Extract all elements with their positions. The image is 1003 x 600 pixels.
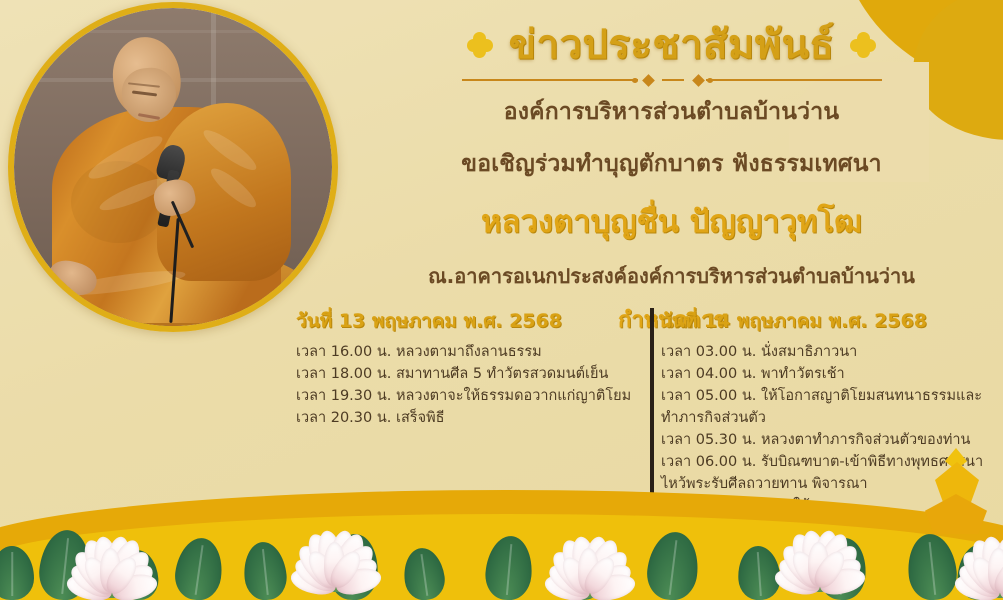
schedule-section: วันที่ 13 พฤษภาคม พ.ศ. 2568 เวลา 16.00 น… [296,306,996,521]
header-block: ข่าวประชาสัมพันธ์ องค์การบริหารส่วนตำบลบ… [340,0,1003,337]
schedule-item: เวลา 18.00 น. สมาทานศีล 5 ทำวัตรสวดมนต์เ… [296,363,623,385]
lotus-flower-icon [760,500,880,592]
lotus-flower-icon [530,506,650,598]
monk-photo [8,2,338,332]
photo-wall-line-top [14,30,332,33]
lotus-flower-icon [276,500,396,592]
schedule-item: เวลา 19.30 น. หลวงตาจะให้ธรรมดอวากแก่ญาต… [296,385,623,407]
page-title: ข่าวประชาสัมพันธ์ [509,24,835,66]
schedule-column-day1: วันที่ 13 พฤษภาคม พ.ศ. 2568 เวลา 16.00 น… [296,306,641,521]
venue-line: ณ.อาคารอเนกประสงค์องค์การบริหารส่วนตำบลบ… [340,260,1003,292]
schedule-item: เวลา 05.00 น. ให้โอกาสญาติโยมสนทนาธรรมแล… [661,385,991,407]
title-divider [462,72,882,88]
schedule-item: เวลา 16.00 น. หลวงตามาถึงลานธรรม [296,341,623,363]
poster-canvas: ข่าวประชาสัมพันธ์ องค์การบริหารส่วนตำบลบ… [0,0,1003,600]
lotus-flower-icon [940,506,1003,598]
lotus-flower-icon [52,506,172,598]
monk-photo-inner [14,8,332,326]
quatrefoil-ornament-left-icon [467,32,493,58]
organization-name: องค์การบริหารส่วนตำบลบ้านว่าน [340,94,1003,130]
schedule-item: เวลา 03.00 น. นั่งสมาธิภาวนา [661,341,991,363]
schedule-item: เวลา 04.00 น. พาทำวัตรเช้า [661,363,991,385]
schedule-item: เวลา 05.30 น. หลวงตาทำภารกิจส่วนตัวของท่… [661,429,991,451]
schedule-item-continuation: ทำภารกิจส่วนตัว [661,407,991,429]
schedule-date-day2: วันที่ 14 พฤษภาคม พ.ศ. 2568 [661,306,991,336]
quatrefoil-ornament-right-icon [850,32,876,58]
invitation-line: ขอเชิญร่วมทำบุญตักบาตร ฟังธรรมเทศนา [340,146,1003,182]
schedule-date-day1: วันที่ 13 พฤษภาคม พ.ศ. 2568 [296,306,623,336]
title-row: ข่าวประชาสัมพันธ์ [340,24,1003,66]
schedule-item: เวลา 20.30 น. เสร็จพิธี [296,407,623,429]
monk-name: หลวงตาบุญชื่น ปัญญาวุทโฒ [340,196,1003,246]
